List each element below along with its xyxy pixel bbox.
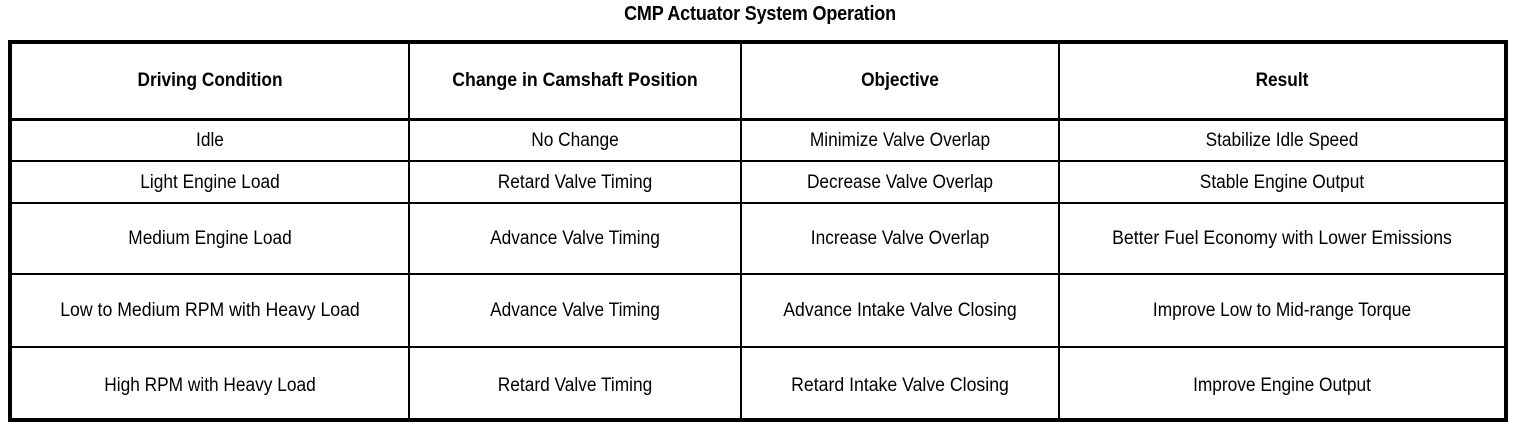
cell-value: Improve Engine Output: [1085, 373, 1478, 398]
cell-objective: Retard Intake Valve Closing: [741, 347, 1059, 422]
table-row: Medium Engine Load Advance Valve Timing …: [12, 203, 1504, 274]
column-header-camshaft-change: Change in Camshaft Position: [409, 44, 741, 119]
cmp-actuator-table: Driving Condition Change in Camshaft Pos…: [12, 44, 1504, 422]
cell-value: Low to Medium RPM with Heavy Load: [31, 298, 388, 323]
cell-objective: Minimize Valve Overlap: [741, 119, 1059, 161]
cell-value: No Change: [430, 128, 719, 153]
column-header-label: Driving Condition: [35, 68, 384, 93]
column-header-objective: Objective: [741, 44, 1059, 119]
column-header-label: Result: [1085, 68, 1478, 93]
page-title: CMP Actuator System Operation: [76, 1, 1444, 27]
cell-objective: Increase Valve Overlap: [741, 203, 1059, 274]
cell-camshaft-change: Retard Valve Timing: [409, 161, 741, 203]
cell-result: Improve Engine Output: [1059, 347, 1504, 422]
cell-result: Improve Low to Mid-range Torque: [1059, 274, 1504, 347]
cell-value: Advance Valve Timing: [430, 298, 719, 323]
cell-value: High RPM with Heavy Load: [35, 373, 384, 398]
table-row: Low to Medium RPM with Heavy Load Advanc…: [12, 274, 1504, 347]
cell-result: Stable Engine Output: [1059, 161, 1504, 203]
cell-value: Idle: [35, 128, 384, 153]
table-row: Light Engine Load Retard Valve Timing De…: [12, 161, 1504, 203]
cell-driving-condition: Light Engine Load: [12, 161, 409, 203]
page-root: CMP Actuator System Operation Driving Co…: [0, 0, 1520, 426]
cell-value: Retard Intake Valve Closing: [759, 373, 1042, 398]
table-row: High RPM with Heavy Load Retard Valve Ti…: [12, 347, 1504, 422]
cell-value: Better Fuel Economy with Lower Emissions: [1081, 226, 1483, 251]
cell-value: Increase Valve Overlap: [762, 226, 1039, 251]
column-header-result: Result: [1059, 44, 1504, 119]
cell-camshaft-change: Retard Valve Timing: [409, 347, 741, 422]
column-header-label: Change in Camshaft Position: [427, 68, 723, 93]
cell-value: Medium Engine Load: [35, 226, 384, 251]
cell-value: Light Engine Load: [35, 170, 384, 195]
cell-value: Improve Low to Mid-range Torque: [1085, 298, 1478, 323]
table-header-row: Driving Condition Change in Camshaft Pos…: [12, 44, 1504, 119]
cell-value: Advance Valve Timing: [430, 226, 719, 251]
cell-result: Better Fuel Economy with Lower Emissions: [1059, 203, 1504, 274]
cell-driving-condition: Idle: [12, 119, 409, 161]
cell-value: Retard Valve Timing: [430, 373, 719, 398]
cell-result: Stabilize Idle Speed: [1059, 119, 1504, 161]
cell-value: Retard Valve Timing: [430, 170, 719, 195]
cell-driving-condition: High RPM with Heavy Load: [12, 347, 409, 422]
column-header-driving-condition: Driving Condition: [12, 44, 409, 119]
cell-value: Stable Engine Output: [1085, 170, 1478, 195]
cell-value: Minimize Valve Overlap: [762, 128, 1039, 153]
table-row: Idle No Change Minimize Valve Overlap St…: [12, 119, 1504, 161]
cell-value: Stabilize Idle Speed: [1085, 128, 1478, 153]
table-header: Driving Condition Change in Camshaft Pos…: [12, 44, 1504, 119]
cell-objective: Advance Intake Valve Closing: [741, 274, 1059, 347]
cell-value: Decrease Valve Overlap: [762, 170, 1039, 195]
table-body: Idle No Change Minimize Valve Overlap St…: [12, 119, 1504, 422]
cell-camshaft-change: No Change: [409, 119, 741, 161]
cell-camshaft-change: Advance Valve Timing: [409, 203, 741, 274]
cell-driving-condition: Medium Engine Load: [12, 203, 409, 274]
cmp-actuator-table-container: Driving Condition Change in Camshaft Pos…: [8, 40, 1508, 422]
cell-objective: Decrease Valve Overlap: [741, 161, 1059, 203]
cell-camshaft-change: Advance Valve Timing: [409, 274, 741, 347]
column-header-label: Objective: [762, 68, 1039, 93]
cell-driving-condition: Low to Medium RPM with Heavy Load: [12, 274, 409, 347]
cell-value: Advance Intake Valve Closing: [759, 298, 1042, 323]
